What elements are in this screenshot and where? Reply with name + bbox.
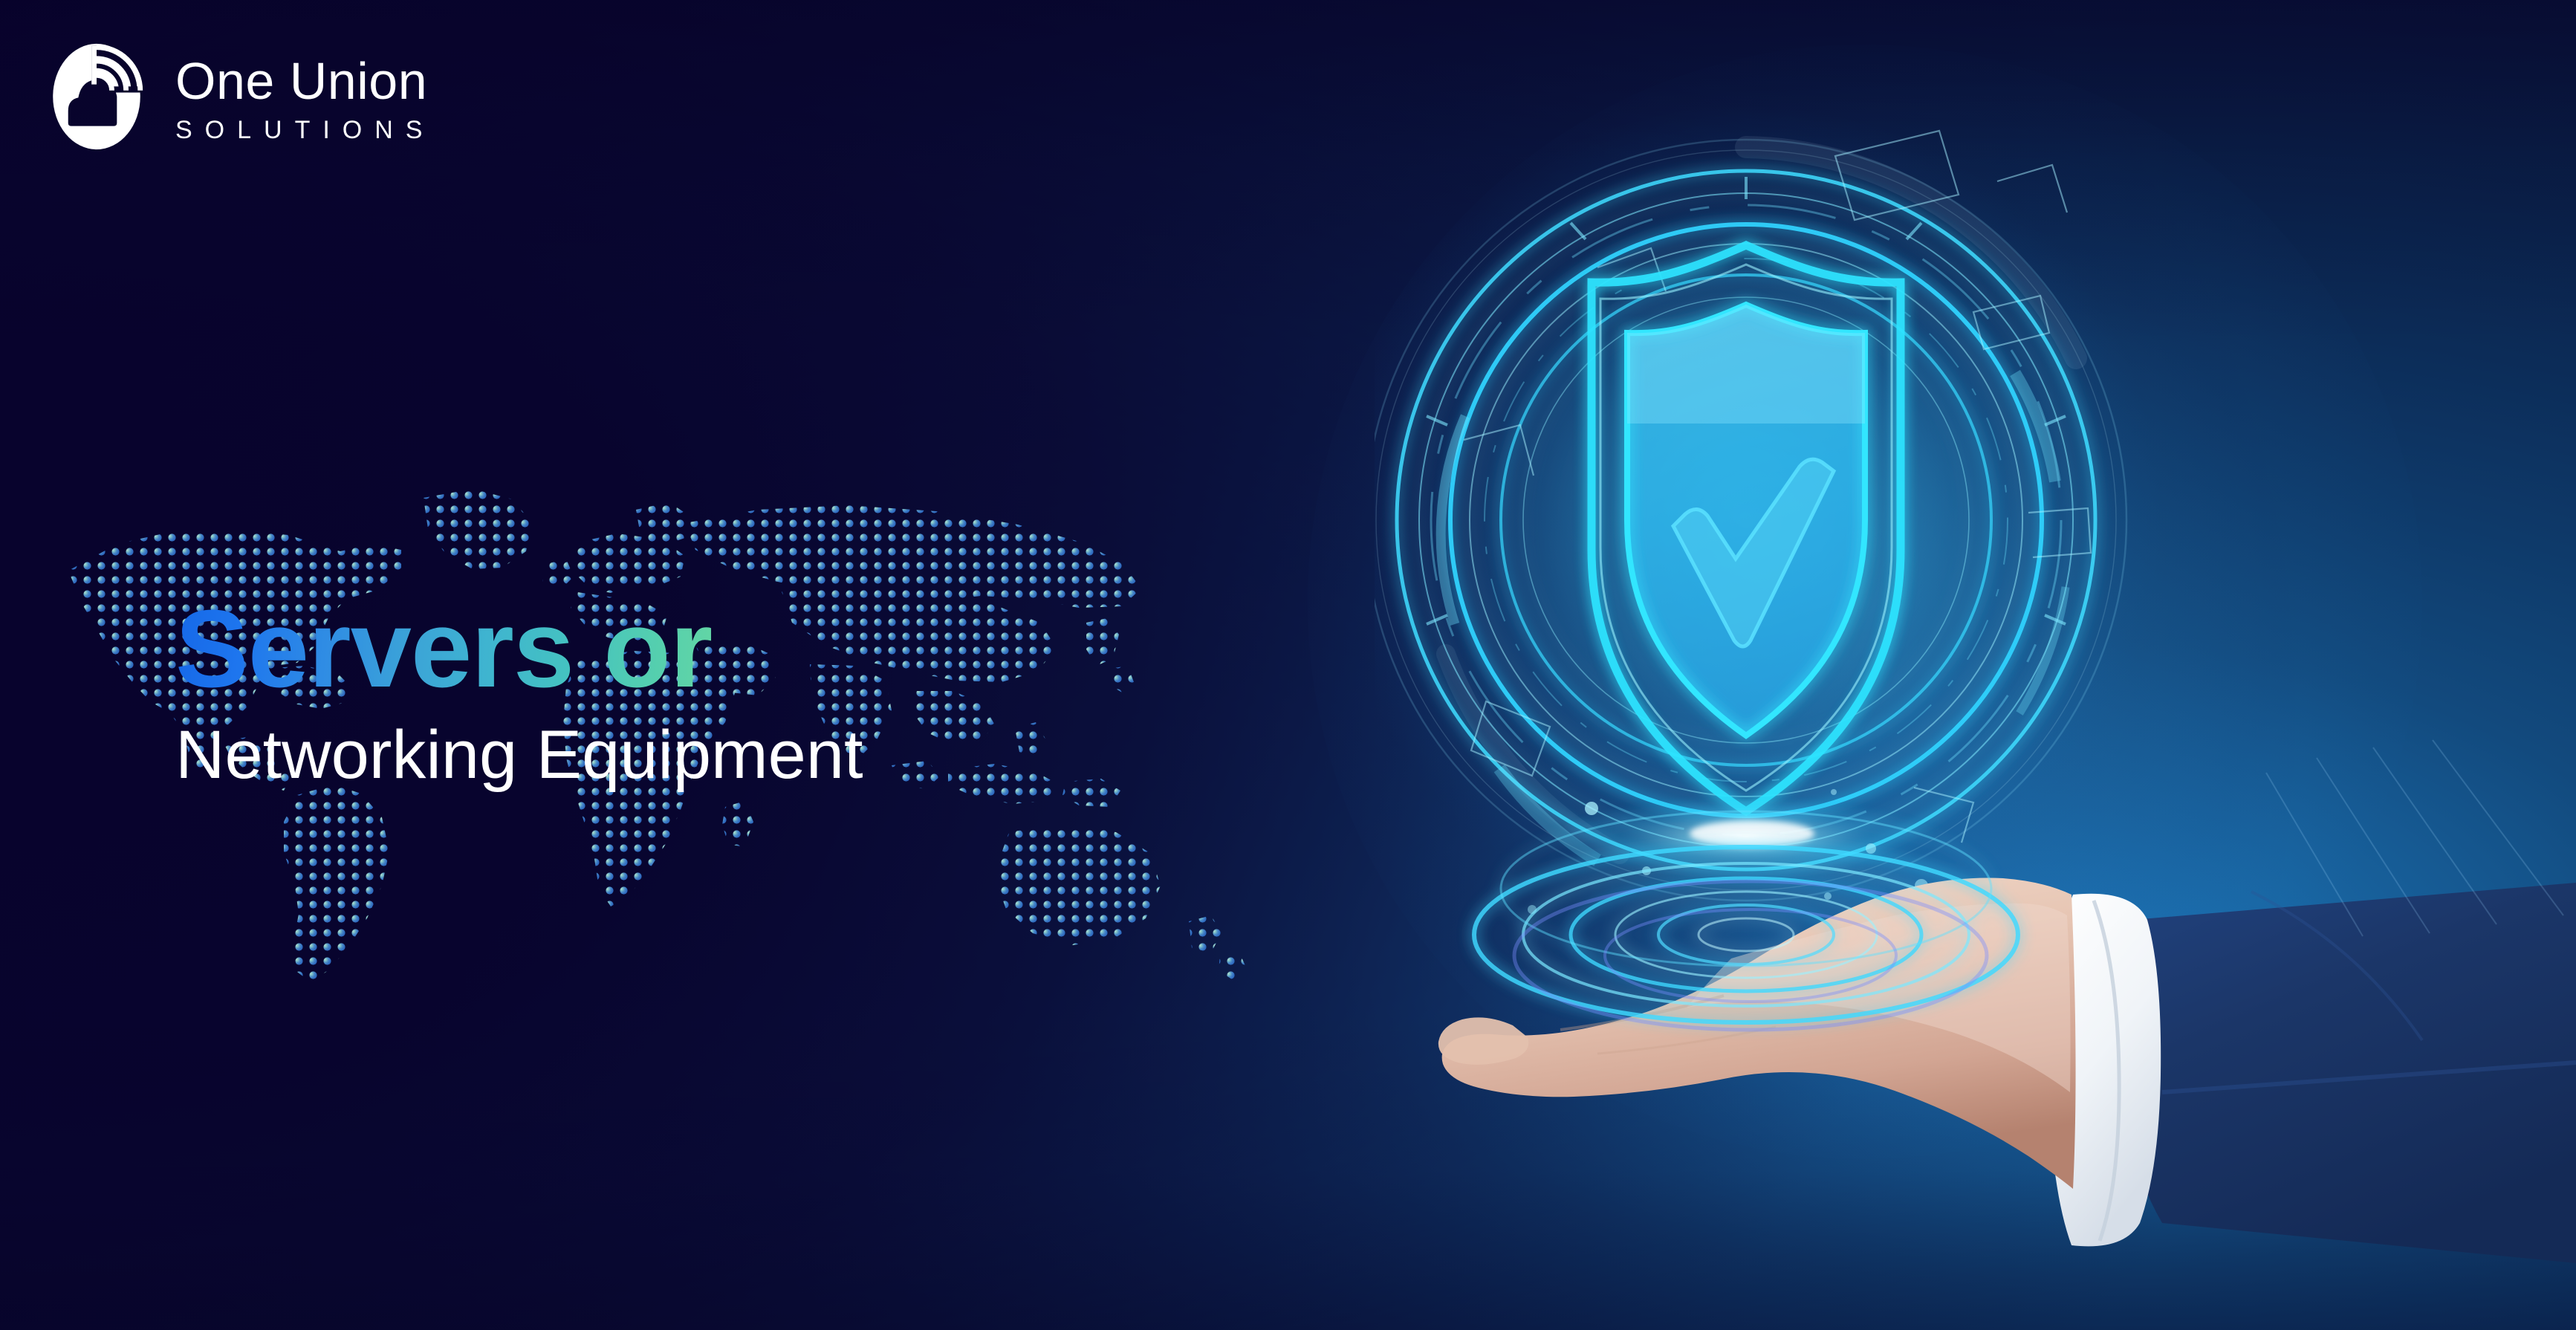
brand-name: One Union: [175, 55, 435, 107]
brand-tagline: SOLUTIONS: [175, 117, 435, 143]
cloud-signal-icon: [36, 36, 158, 158]
headline-primary: Servers or: [175, 594, 863, 704]
logo-wordmark: One Union SOLUTIONS: [175, 51, 435, 143]
headline-secondary: Networking Equipment: [175, 719, 863, 791]
hero-banner: One Union SOLUTIONS Servers or Networkin…: [0, 0, 2576, 1330]
brand-logo[interactable]: One Union SOLUTIONS: [36, 36, 435, 158]
headline-block: Servers or Networking Equipment: [175, 594, 863, 791]
